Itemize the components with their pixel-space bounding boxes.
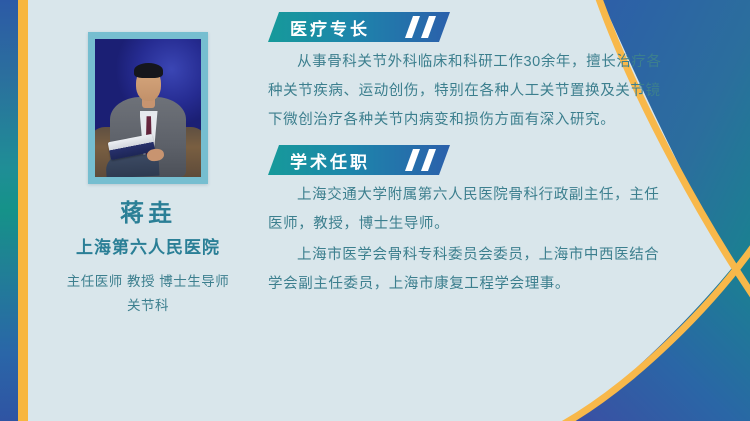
slash-accent-icon — [421, 16, 436, 38]
doctor-hospital: 上海第六人民医院 — [76, 239, 220, 256]
section-academic-posts: 学术任职 上海交通大学附属第六人民医院骨科行政副主任，主任医师，教授，博士生导师… — [268, 145, 662, 299]
doctor-titles: 主任医师 教授 博士生导师 关节科 — [67, 270, 230, 317]
doctor-department: 关节科 — [67, 294, 230, 318]
portrait-hair — [134, 63, 163, 78]
portrait-frame — [88, 32, 208, 184]
section-badge-academic: 学术任职 — [268, 145, 450, 175]
section-badge-label: 医疗专长 — [290, 15, 370, 40]
section-paragraph: 上海交通大学附属第六人民医院骨科行政副主任，主任医师，教授，博士生导师。 — [268, 181, 662, 239]
section-badge-label: 学术任职 — [290, 148, 370, 173]
slash-accent-icon — [405, 16, 420, 38]
doctor-title-line: 主任医师 教授 博士生导师 — [67, 270, 230, 294]
content-column: 医疗专长 从事骨科关节外科临床和科研工作30余年，擅长治疗各种关节疾病、运动创伤… — [268, 0, 688, 421]
section-paragraph: 从事骨科关节外科临床和科研工作30余年，擅长治疗各种关节疾病、运动创伤，特别在各… — [268, 48, 662, 135]
section-paragraph: 上海市医学会骨科专科委员会委员，上海市中西医结合学会副主任委员，上海市康复工程学… — [268, 241, 662, 299]
section-badge-specialty: 医疗专长 — [268, 12, 450, 42]
section-specialty: 医疗专长 从事骨科关节外科临床和科研工作30余年，擅长治疗各种关节疾病、运动创伤… — [268, 12, 662, 135]
doctor-name: 蒋垚 — [120, 202, 176, 226]
slash-accent-icon — [405, 149, 420, 171]
doctor-profile-card: 蒋垚 上海第六人民医院 主任医师 教授 博士生导师 关节科 医疗专长 从事骨科关… — [0, 0, 750, 421]
doctor-portrait-photo — [95, 39, 201, 177]
left-accent-stripe-teal — [0, 0, 18, 421]
left-accent-stripe-orange — [18, 0, 28, 421]
profile-column: 蒋垚 上海第六人民医院 主任医师 教授 博士生导师 关节科 — [28, 0, 268, 421]
slash-accent-icon — [421, 149, 436, 171]
